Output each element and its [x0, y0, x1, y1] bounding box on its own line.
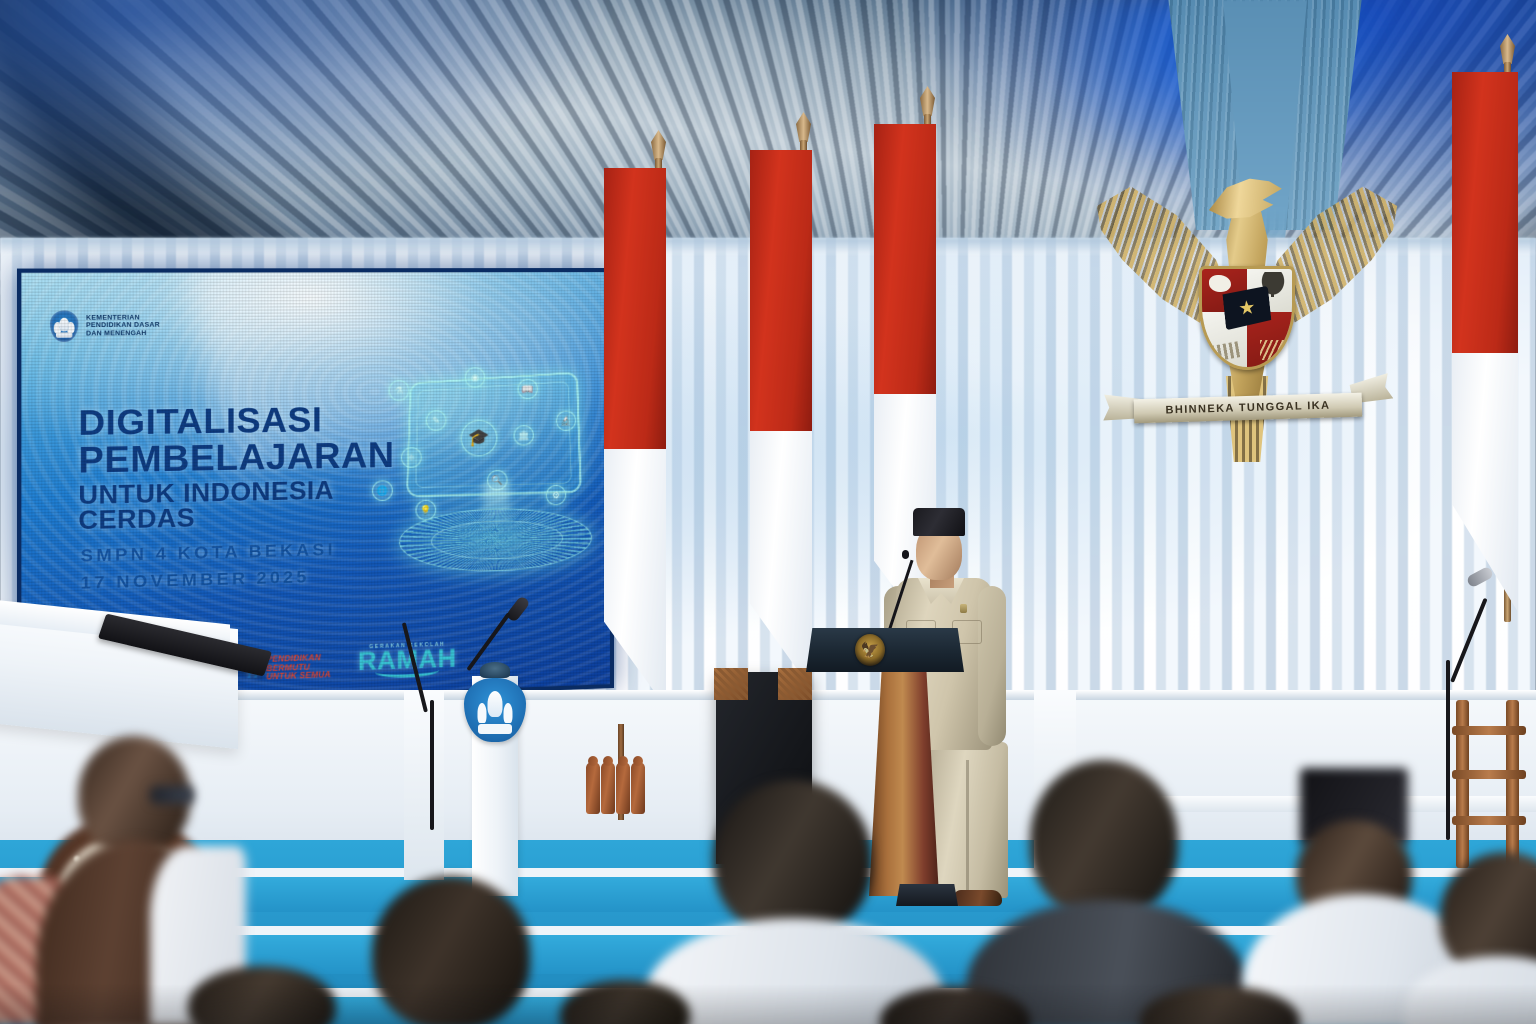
figurine [601, 762, 615, 814]
speaker-shoe [954, 890, 1002, 906]
podium-garuda-emblem-icon [855, 634, 885, 666]
stage-riser-column-left [404, 690, 444, 880]
carved-wood-corner-right [778, 668, 812, 700]
speaker-lapel-badge [960, 604, 967, 613]
flask-icon: ⚗ [389, 380, 410, 401]
rantai-chain-icon [1204, 342, 1240, 364]
speaker-leg-seam [966, 760, 969, 896]
speaker-legs [930, 742, 1008, 898]
carved-wooden-chair [1452, 700, 1536, 870]
brain-icon: ⚙ [546, 485, 566, 506]
figurine [586, 762, 600, 814]
indonesian-flag-1 [604, 168, 666, 708]
chair-rail-3 [1452, 816, 1526, 825]
flag-red-band-2 [750, 150, 812, 431]
black-peci-cap [913, 508, 965, 536]
indonesian-flag-2 [750, 150, 812, 690]
network-icon: ◉ [465, 367, 485, 387]
motto-band: BHINNEKA TUNGGAL IKA [1134, 393, 1363, 424]
chair-rail-2 [1452, 770, 1526, 779]
audience-head [714, 780, 872, 936]
flag-red-band-1 [604, 168, 666, 449]
headline-line-2: PEMBELAJARAN [78, 438, 427, 479]
foreground-vignette [0, 984, 1536, 1024]
motto-scroll: BHINNEKA TUNGGAL IKA [1108, 370, 1387, 446]
audience-head [1030, 760, 1178, 918]
screen-headline: DIGITALISASI PEMBELAJARAN UNTUK INDONESI… [78, 402, 427, 534]
carved-wood-corner-left [714, 668, 748, 700]
presidential-podium [806, 628, 964, 672]
hologram-graphic: 🎓 ⚗ ✎ ⚛ 🌐 💡 ◉ 📖 🔬 🏛 🔍 ⚙ [380, 356, 610, 593]
globe-icon: 🌐 [372, 480, 393, 501]
mic-stand-right-pole [1446, 660, 1450, 840]
ceiling-blue-light-left [0, 0, 620, 210]
flag-red-band-4 [1452, 72, 1518, 353]
speaker-boom-mic-tip [902, 550, 909, 559]
pancasila-shield-icon: ★ [1199, 266, 1295, 370]
tut-wuri-handayani-logo-icon [464, 678, 526, 742]
banteng-icon [1209, 275, 1231, 292]
speaker-right-arm [978, 586, 1006, 746]
eyeglasses-icon [150, 786, 194, 804]
pendidikan-bermutu-text: PENDIDIKAN BERMUTU UNTUK SEMUA [266, 654, 330, 683]
wooden-figurines [586, 762, 658, 814]
ramah-wordmark: RAMAH [358, 647, 457, 673]
garuda-pancasila-emblem: ★ BHINNEKA TUNGGAL IKA [1092, 168, 1402, 468]
motto-text: BHINNEKA TUNGGAL IKA [1165, 400, 1330, 417]
figurine [616, 762, 630, 814]
book-icon: 📖 [518, 379, 538, 399]
tut-wuri-handayani-seal-icon [50, 310, 78, 342]
ministry-logo: KEMENTERIAN PENDIDIKAN DASAR DAN MENENGA… [50, 310, 160, 342]
figurine [631, 762, 645, 814]
chair-rail-1 [1452, 726, 1526, 735]
padi-kapas-icon [1260, 340, 1288, 360]
mic-stand-left-pole [430, 700, 434, 830]
photo-scene: KEMENTERIAN PENDIDIKAN DASAR DAN MENENGA… [0, 0, 1536, 1024]
podium-base [896, 884, 958, 906]
flag-red-band-3 [874, 124, 936, 394]
ministry-logo-text: KEMENTERIAN PENDIDIKAN DASAR DAN MENENGA… [86, 314, 160, 338]
pillar-cap [480, 662, 510, 678]
